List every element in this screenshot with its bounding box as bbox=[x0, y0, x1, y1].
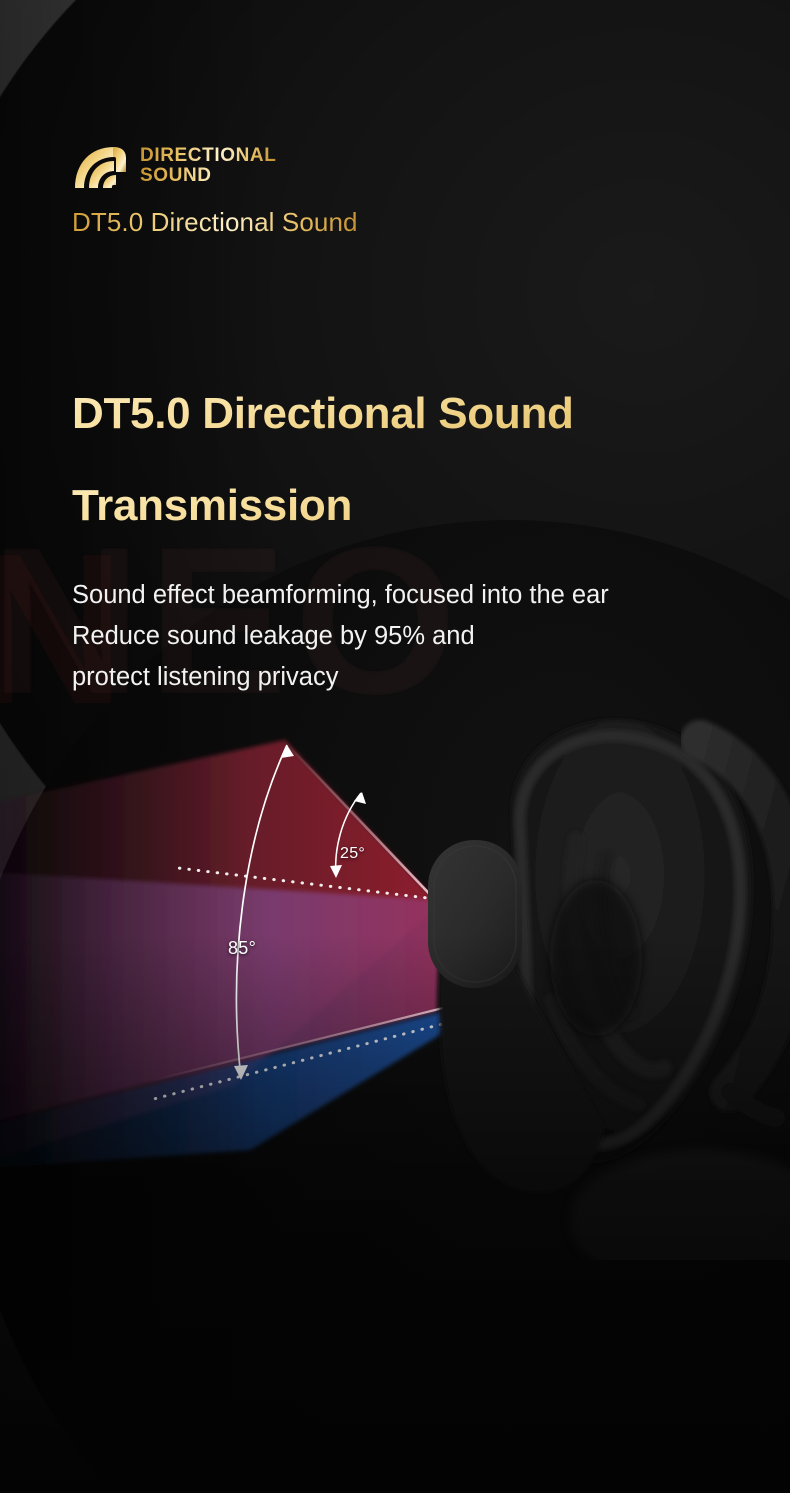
brand-line-2: SOUND bbox=[140, 166, 276, 186]
headline-line-1: DT5.0 Directional Sound bbox=[72, 392, 752, 436]
page-title: DT5.0 Directional Sound Transmission bbox=[72, 392, 752, 528]
bottom-vignette bbox=[0, 933, 790, 1493]
brand-line-1: DIRECTIONAL bbox=[140, 146, 276, 166]
sound-wave-arcs-icon bbox=[72, 142, 128, 190]
description-line-2: Reduce sound leakage by 95% and bbox=[72, 616, 772, 657]
description-line-1: Sound effect beamforming, focused into t… bbox=[72, 575, 772, 616]
angle-label-25: 25° bbox=[340, 845, 365, 863]
brand-subtitle: DT5.0 Directional Sound bbox=[72, 207, 358, 238]
headline-line-2: Transmission bbox=[72, 484, 752, 528]
product-feature-poster: N NEO bbox=[0, 0, 790, 1493]
brand-wordmark: DIRECTIONAL SOUND bbox=[140, 146, 276, 186]
brand-lockup: DIRECTIONAL SOUND bbox=[72, 142, 276, 190]
angle-label-85: 85° bbox=[228, 938, 256, 959]
description-line-3: protect listening privacy bbox=[72, 657, 772, 698]
feature-description: Sound effect beamforming, focused into t… bbox=[72, 575, 772, 697]
